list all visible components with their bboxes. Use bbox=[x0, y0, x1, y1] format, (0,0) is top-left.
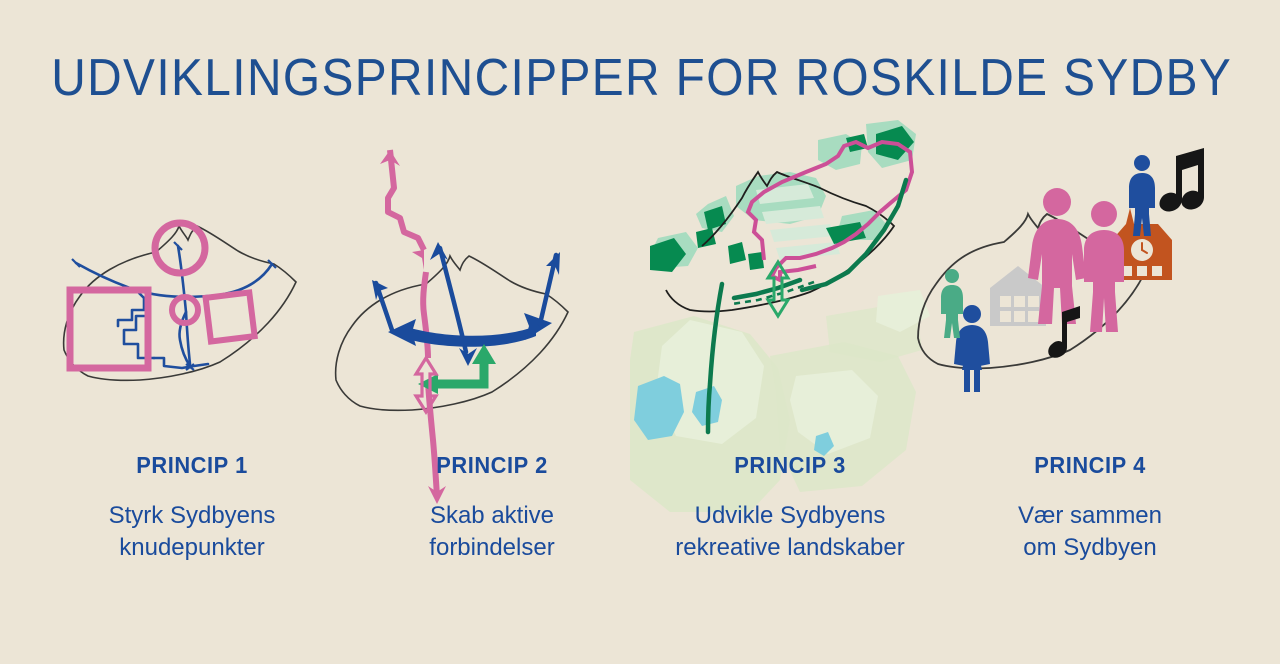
music-note-large bbox=[1160, 148, 1204, 212]
blue-axis-arrow bbox=[388, 313, 552, 347]
panel-princip-4: PRINCIP 4 Vær sammen om Sydbyen bbox=[930, 120, 1250, 640]
music-note-small bbox=[1048, 306, 1080, 358]
panel-princip-3: PRINCIP 3 Udvikle Sydbyens rekreative la… bbox=[630, 120, 950, 640]
poster-canvas: UDVIKLINGSPRINCIPPER FOR ROSKILDE SYDBY bbox=[0, 0, 1280, 664]
principle-description: Skab aktive forbindelser bbox=[332, 500, 652, 563]
principle-description: Styrk Sydbyens knudepunkter bbox=[32, 500, 352, 563]
map-nodes-diagram bbox=[32, 120, 352, 450]
map-community-diagram bbox=[930, 120, 1250, 450]
map-connections-diagram bbox=[332, 120, 652, 450]
principle-description: Udvikle Sydbyens rekreative landskaber bbox=[630, 500, 950, 563]
description-line: Skab aktive bbox=[344, 500, 640, 532]
description-line: knudepunkter bbox=[44, 532, 340, 564]
pink-square-small bbox=[206, 292, 255, 341]
principle-label: PRINCIP 3 bbox=[638, 452, 942, 479]
panel-caption: PRINCIP 2 Skab aktive forbindelser bbox=[332, 452, 652, 563]
panel-caption: PRINCIP 3 Udvikle Sydbyens rekreative la… bbox=[630, 452, 950, 563]
principle-label: PRINCIP 2 bbox=[340, 452, 644, 479]
principle-label: PRINCIP 1 bbox=[40, 452, 344, 479]
principle-description: Vær sammen om Sydbyen bbox=[930, 500, 1250, 563]
page-title: UDVIKLINGSPRINCIPPER FOR ROSKILDE SYDBY bbox=[51, 48, 1229, 108]
panel-princip-1: PRINCIP 1 Styrk Sydbyens knudepunkter bbox=[32, 120, 352, 640]
figure-blue-small bbox=[954, 305, 990, 392]
description-line: rekreative landskaber bbox=[642, 532, 938, 564]
map-landscape-diagram bbox=[630, 120, 950, 450]
description-line: om Sydbyen bbox=[942, 532, 1238, 564]
description-line: forbindelser bbox=[344, 532, 640, 564]
panel-princip-2: PRINCIP 2 Skab aktive forbindelser bbox=[332, 120, 652, 640]
figure-man-pink bbox=[1084, 201, 1124, 332]
description-line: Udvikle Sydbyens bbox=[642, 500, 938, 532]
principle-label: PRINCIP 4 bbox=[938, 452, 1242, 479]
panel-caption: PRINCIP 4 Vær sammen om Sydbyen bbox=[930, 452, 1250, 563]
figure-green-small bbox=[941, 269, 963, 338]
panel-caption: PRINCIP 1 Styrk Sydbyens knudepunkter bbox=[32, 452, 352, 563]
description-line: Styrk Sydbyens bbox=[44, 500, 340, 532]
description-line: Vær sammen bbox=[942, 500, 1238, 532]
